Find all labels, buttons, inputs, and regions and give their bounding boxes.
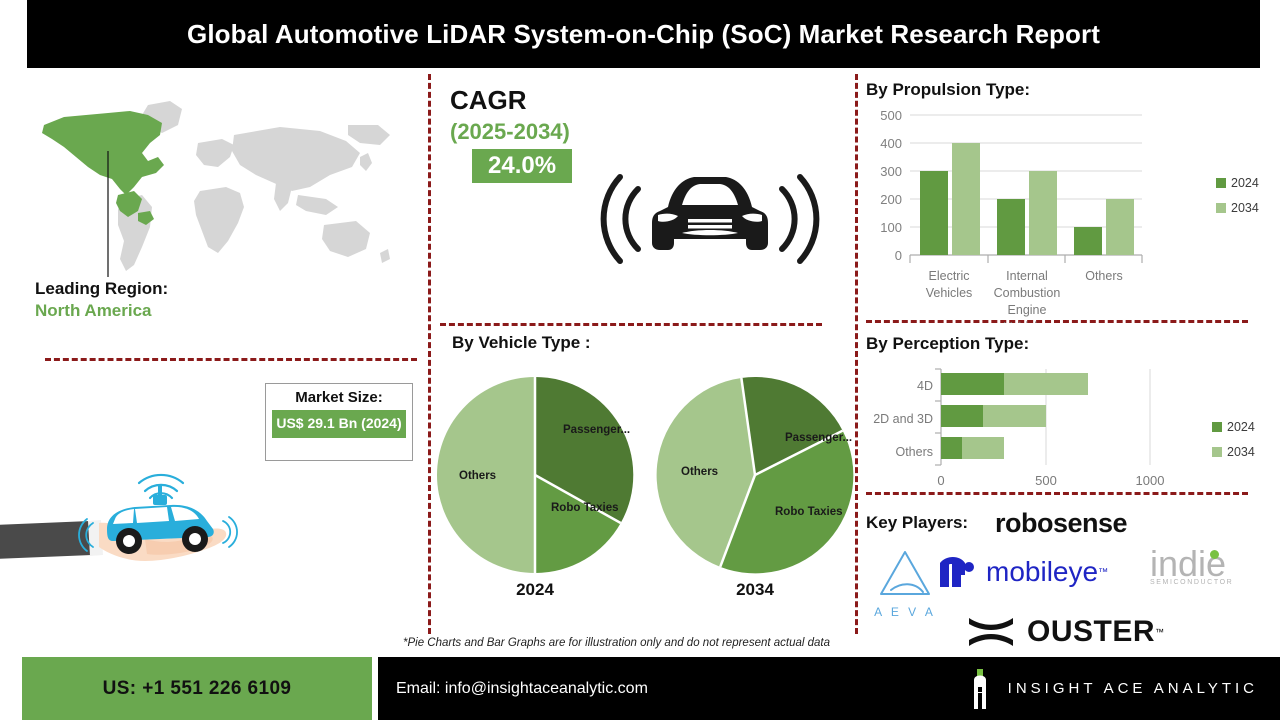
footer-phone-block: US: +1 551 226 6109 xyxy=(22,657,372,720)
leading-region-value: North America xyxy=(35,300,168,322)
svg-text:0: 0 xyxy=(895,248,902,263)
pie-chart-2034: Passenger... Robo Taxies Others xyxy=(655,375,855,575)
divider-horizontal-left xyxy=(45,358,417,361)
cagr-years: (2025-2034) xyxy=(450,118,572,146)
divider-horizontal-right-bottom xyxy=(866,492,1248,495)
propulsion-type-title: By Propulsion Type: xyxy=(866,80,1030,100)
footer-info-block: Email: info@insightaceanalytic.com INSIG… xyxy=(378,657,1280,720)
legend-swatch-2024-perception-icon xyxy=(1212,422,1222,432)
brand-name: INSIGHT ACE ANALYTIC xyxy=(1008,680,1258,697)
page-title: Global Automotive LiDAR System-on-Chip (… xyxy=(187,19,1100,50)
legend-swatch-2034-icon xyxy=(1216,203,1226,213)
svg-text:500: 500 xyxy=(1035,473,1057,488)
logo-aeva-text: A E V A xyxy=(865,605,945,619)
brand-logo: INSIGHT ACE ANALYTIC xyxy=(966,657,1258,720)
svg-text:400: 400 xyxy=(880,136,902,151)
propulsion-bar-chart: 500 400 300 200 100 0 xyxy=(862,103,1202,323)
ouster-mark-icon xyxy=(965,615,1017,649)
divider-horizontal-middle xyxy=(440,323,822,326)
svg-text:1000: 1000 xyxy=(1136,473,1165,488)
logo-robosense-text: robosense xyxy=(995,508,1127,538)
svg-text:300: 300 xyxy=(880,164,902,179)
logo-ouster: OUSTER ™ xyxy=(965,615,1164,649)
svg-text:Electric: Electric xyxy=(929,269,970,283)
hand-holding-car-illustration xyxy=(0,455,275,585)
mobileye-mark-icon xyxy=(938,555,980,589)
pie-chart-2024: Passenger... Robo Taxies Others xyxy=(435,375,635,575)
logo-mobileye-text: mobileye xyxy=(986,558,1098,586)
svg-text:Vehicles: Vehicles xyxy=(926,286,973,300)
vehicle-type-pies: Passenger... Robo Taxies Others 2024 xyxy=(435,375,835,620)
header-bar: Global Automotive LiDAR System-on-Chip (… xyxy=(27,0,1260,68)
logo-robosense: robosense xyxy=(995,508,1127,539)
aeva-triangle-icon xyxy=(875,548,935,600)
world-map xyxy=(30,95,410,280)
pie-2024-label-robo: Robo Taxies xyxy=(551,502,619,514)
logo-indie: indie SEMICONDUCTOR xyxy=(1150,548,1233,586)
pie-2034-label-robo: Robo Taxies xyxy=(775,506,843,518)
vehicle-type-title: By Vehicle Type : xyxy=(452,333,591,353)
infographic-root: Global Automotive LiDAR System-on-Chip (… xyxy=(0,0,1280,720)
logo-mobileye: mobileye ™ xyxy=(938,555,1108,589)
legend-label-2024: 2024 xyxy=(1231,176,1259,190)
footer-email: Email: info@insightaceanalytic.com xyxy=(396,680,648,698)
cagr-title: CAGR xyxy=(450,86,572,115)
legend-item-2024-perception: 2024 xyxy=(1212,420,1255,434)
pie-2024-label-others: Others xyxy=(459,470,496,482)
svg-text:0: 0 xyxy=(937,473,944,488)
svg-text:100: 100 xyxy=(880,220,902,235)
svg-text:200: 200 xyxy=(880,192,902,207)
svg-text:Others: Others xyxy=(1085,269,1123,283)
logo-ouster-tm: ™ xyxy=(1155,627,1164,637)
svg-text:Others: Others xyxy=(895,445,933,459)
pie-2024-year: 2024 xyxy=(435,580,635,600)
legend-item-2034: 2034 xyxy=(1216,201,1259,215)
divider-vertical-left xyxy=(428,74,431,634)
logo-ouster-text: OUSTER xyxy=(1027,615,1155,649)
legend-item-2034-perception: 2034 xyxy=(1212,445,1255,459)
perception-bar-chart: 4D 2D and 3D Others 0 xyxy=(862,365,1202,490)
footer-phone: US: +1 551 226 6109 xyxy=(103,678,292,700)
propulsion-legend: 2024 2034 xyxy=(1216,176,1259,226)
svg-text:500: 500 xyxy=(880,108,902,123)
legend-label-2034-perception: 2034 xyxy=(1227,445,1255,459)
pie-2034-label-passenger: Passenger... xyxy=(785,432,852,444)
legend-label-2024-perception: 2024 xyxy=(1227,420,1255,434)
divider-vertical-right xyxy=(855,74,858,634)
leading-region: Leading Region: North America xyxy=(35,278,168,322)
market-size-value: US$ 29.1 Bn (2024) xyxy=(272,410,406,438)
svg-text:2D and 3D: 2D and 3D xyxy=(873,412,933,426)
logo-aeva: A E V A xyxy=(865,548,945,619)
insight-ace-mark-icon xyxy=(966,669,994,709)
pie-2024-label-passenger: Passenger... xyxy=(563,424,630,436)
perception-legend: 2024 2034 xyxy=(1212,420,1255,470)
svg-text:Internal: Internal xyxy=(1006,269,1048,283)
market-size-label: Market Size: xyxy=(266,389,412,406)
legend-item-2024: 2024 xyxy=(1216,176,1259,190)
logo-mobileye-tm: ™ xyxy=(1098,567,1108,578)
key-players-logos: robosense A E V A mobileye ™ indie xyxy=(860,500,1280,660)
legend-label-2034: 2034 xyxy=(1231,201,1259,215)
legend-swatch-2024-icon xyxy=(1216,178,1226,188)
disclaimer-note: *Pie Charts and Bar Graphs are for illus… xyxy=(403,637,830,649)
market-size-card: Market Size: US$ 29.1 Bn (2024) xyxy=(265,383,413,461)
logo-indie-text: indie xyxy=(1150,548,1233,580)
perception-type-title: By Perception Type: xyxy=(866,334,1029,354)
car-sensor-icon xyxy=(590,155,830,270)
cagr-block: CAGR (2025-2034) 24.0% xyxy=(450,86,572,183)
svg-text:Vehicles: Vehicles xyxy=(1004,320,1051,323)
pie-2034-year: 2034 xyxy=(655,580,855,600)
svg-text:Engine: Engine xyxy=(1008,303,1047,317)
svg-text:4D: 4D xyxy=(917,379,933,393)
svg-text:Combustion: Combustion xyxy=(994,286,1061,300)
cagr-value: 24.0% xyxy=(472,149,572,183)
pie-2034-label-others: Others xyxy=(681,466,718,478)
legend-swatch-2034-perception-icon xyxy=(1212,447,1222,457)
leading-region-label: Leading Region: xyxy=(35,278,168,300)
